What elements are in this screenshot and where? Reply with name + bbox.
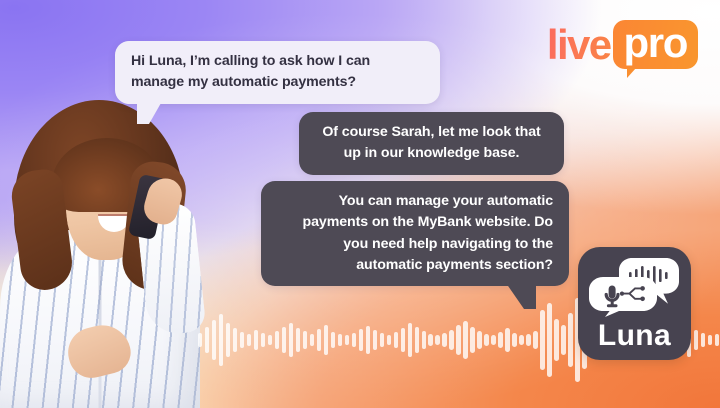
logo-live-text: live xyxy=(547,24,611,66)
chat-bubble-agent-2: You can manage your automatic payments o… xyxy=(261,181,569,286)
livepro-logo[interactable]: live pro xyxy=(547,20,698,69)
logo-bubble-tail-icon xyxy=(627,68,645,78)
logo-pro-text: pro xyxy=(613,20,698,69)
luna-assistant-badge[interactable]: Luna xyxy=(578,247,691,360)
chat-bubble-agent-2-tail-icon xyxy=(506,283,536,309)
chat-bubble-caller: Hi Luna, I’m calling to ask how I can ma… xyxy=(115,41,440,104)
logo-pro-bubble: pro xyxy=(613,20,698,69)
promo-banner: live pro Hi Luna, I’m calling to ask how… xyxy=(0,0,720,408)
smiling-woman-on-phone xyxy=(0,90,212,408)
chat-bubble-caller-tail-icon xyxy=(137,96,165,124)
chat-bubble-agent-1: Of course Sarah, let me look that up in … xyxy=(299,112,564,175)
luna-voice-ai-icon xyxy=(586,255,683,317)
luna-label: Luna xyxy=(578,321,691,351)
